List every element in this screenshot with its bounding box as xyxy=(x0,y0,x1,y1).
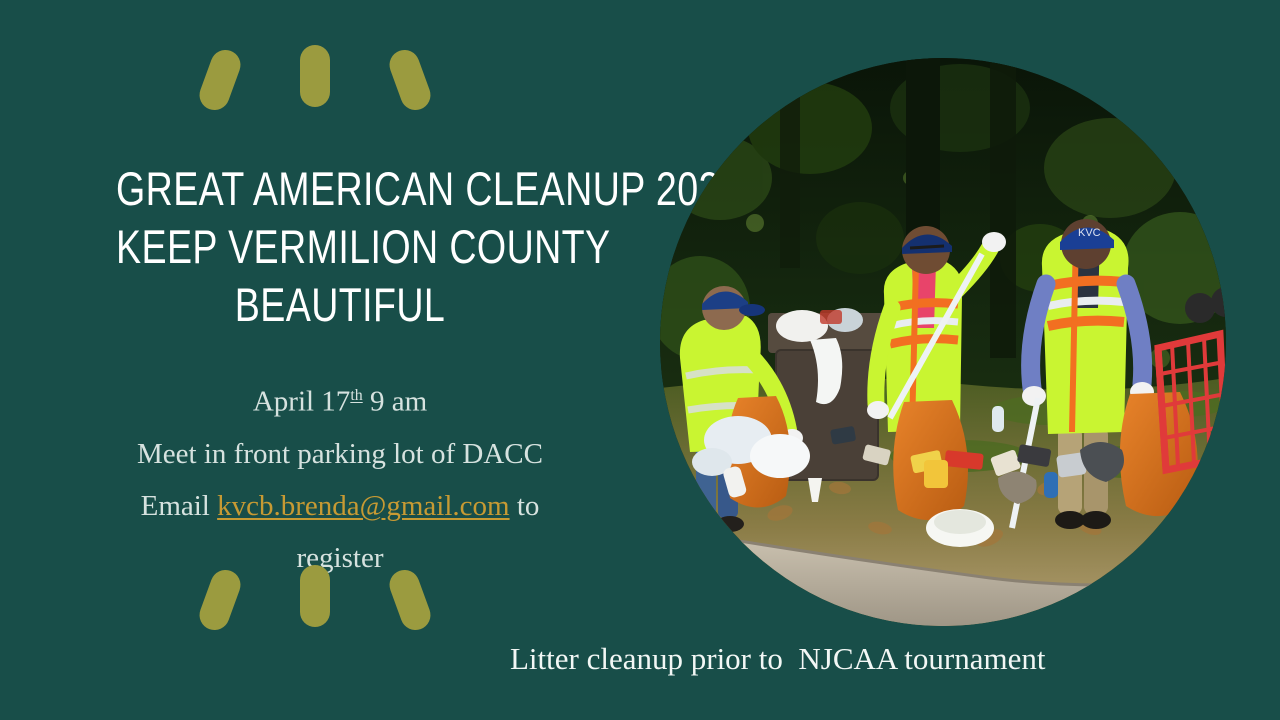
dash-right-icon xyxy=(385,46,434,115)
event-datetime: April 17th 9 am xyxy=(60,370,620,428)
decoration-dashes-top xyxy=(205,45,445,115)
event-registration: Email kvcb.brenda@gmail.com to xyxy=(60,480,620,532)
dash-center-icon xyxy=(300,45,330,107)
decoration-dashes-bottom xyxy=(205,565,445,640)
event-time: 9 am xyxy=(363,386,427,418)
poster-canvas: GREAT AMERICAN CLEANUP 2021 KEEP VERMILI… xyxy=(0,0,1280,720)
page-title: GREAT AMERICAN CLEANUP 2021 KEEP VERMILI… xyxy=(116,160,564,334)
email-link[interactable]: kvcb.brenda@gmail.com xyxy=(217,490,509,522)
headline-line-3: BEAUTIFUL xyxy=(116,276,564,334)
event-details: April 17th 9 am Meet in front parking lo… xyxy=(60,370,620,584)
email-label: Email xyxy=(141,490,218,522)
headline-line-2: KEEP VERMILION COUNTY xyxy=(116,218,564,276)
svg-text:KVC: KVC xyxy=(1078,227,1101,239)
cleanup-photo-illustration: KVC xyxy=(660,58,1226,626)
event-date-ordinal: th xyxy=(350,387,362,404)
headline-line-1: GREAT AMERICAN CLEANUP 2021 xyxy=(116,160,564,218)
event-date: April 17 xyxy=(253,386,350,418)
dash-right-icon xyxy=(385,566,434,635)
email-suffix: to xyxy=(510,490,540,522)
event-location: Meet in front parking lot of DACC xyxy=(60,428,620,480)
dash-left-icon xyxy=(195,46,244,115)
dash-center-icon xyxy=(300,565,330,627)
photo-caption: Litter cleanup prior to NJCAA tournament xyxy=(510,640,1046,678)
cleanup-photo: KVC xyxy=(660,58,1226,626)
cart-wheel xyxy=(1185,293,1215,323)
